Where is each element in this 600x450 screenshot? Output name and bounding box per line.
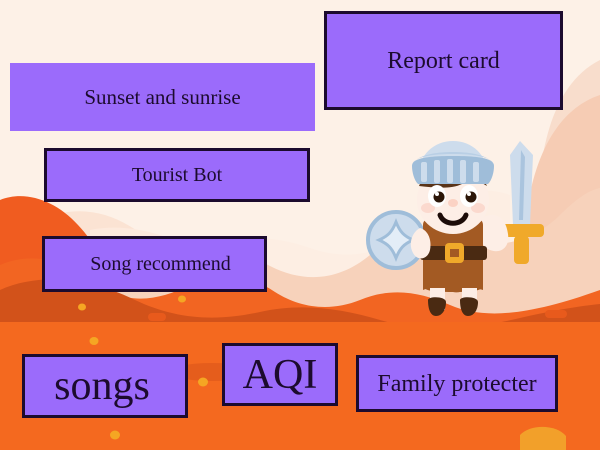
button-label: songs [25,365,185,407]
button-label: Song recommend [45,254,264,274]
dash-pebble [545,310,567,318]
dash-pebble [148,313,166,321]
dot-pebble [110,431,120,440]
button-label: Sunset and sunrise [10,87,315,108]
dot-pebble [90,337,99,345]
app-canvas: Sunset and sunrise Report card Tourist B… [0,0,600,450]
button-family-protecter[interactable]: Family protecter [356,355,558,412]
knight-nose [448,199,458,207]
button-sunset-and-sunrise[interactable]: Sunset and sunrise [10,63,315,131]
knight-pupil-left [434,192,445,203]
button-label: AQI [225,354,335,396]
button-songs[interactable]: songs [22,354,188,418]
dot-pebble [178,296,186,303]
button-label: Report card [327,49,560,73]
dot-pebble [198,378,208,387]
button-aqi[interactable]: AQI [222,343,338,406]
sword-grip [514,236,529,264]
button-label: Family protecter [359,372,555,396]
button-report-card[interactable]: Report card [324,11,563,110]
button-song-recommend[interactable]: Song recommend [42,236,267,292]
button-tourist-bot[interactable]: Tourist Bot [44,148,310,202]
buckle-hole [450,249,459,257]
dot-pebble [78,304,86,311]
knight-eye-glint-left [435,192,439,196]
button-label: Tourist Bot [47,165,307,185]
knight-pupil-right [466,192,477,203]
knight-eye-glint-right [467,192,471,196]
